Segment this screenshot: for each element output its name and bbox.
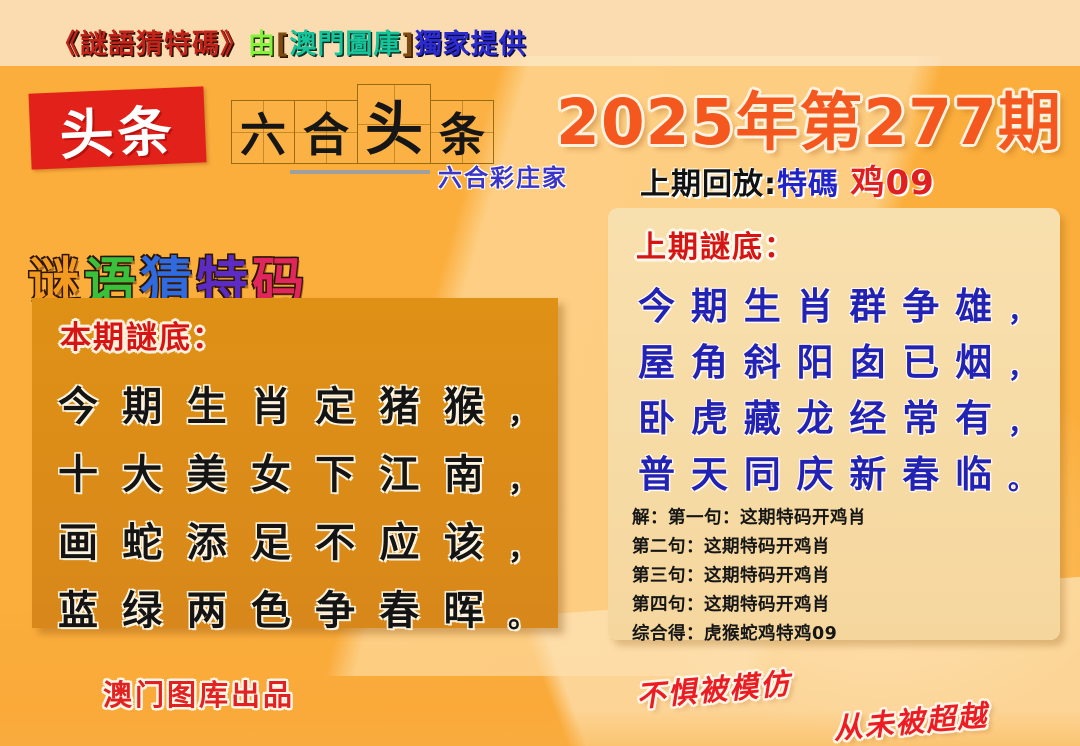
previous-riddle-line-2: 屋 角 斜 阳 囱 已 烟 ， (638, 332, 1036, 386)
l2c1: 大 (122, 442, 162, 500)
issue-title: 2025年第277期 (556, 72, 1062, 163)
logo-grid-cell-1: 合 (294, 100, 358, 164)
r2c3: 阳 (797, 332, 834, 386)
header-part-1: 謎語猜特碼 (80, 22, 220, 61)
r3c4: 经 (849, 388, 886, 442)
l3c5: 应 (379, 510, 419, 568)
r3c3: 龙 (797, 388, 834, 442)
r4c5: 春 (902, 444, 939, 498)
previous-riddle-box: 上期謎底： 今 期 生 肖 群 争 雄 ， 屋 角 斜 阳 囱 已 烟 ， 卧 … (608, 208, 1060, 640)
r1c1: 期 (691, 276, 728, 330)
l3c1: 蛇 (122, 510, 162, 568)
l4c0: 蓝 (58, 578, 98, 636)
header-part-2: 》 (220, 22, 248, 61)
header-part-7: 獨家提供 (415, 22, 527, 61)
current-riddle-line-4: 蓝 绿 两 色 争 春 晖 。 (58, 578, 538, 636)
header-part-6: ] (401, 29, 414, 60)
logo-badge: 头条 (28, 86, 206, 169)
logo-grid-cell-2: 头 (357, 84, 431, 164)
r3c5: 常 (902, 388, 939, 442)
l1punct: ， (508, 388, 538, 432)
header-part-5: 澳門圖庫 (289, 22, 401, 61)
l1c1: 期 (122, 374, 162, 432)
logo-grid-cell-3: 条 (430, 100, 494, 164)
recall-value: 鸡09 (850, 163, 934, 203)
r4c6: 临 (955, 444, 992, 498)
l1c3: 肖 (251, 374, 291, 432)
l3punct: ， (508, 524, 538, 568)
logo-grid-char-3: 条 (439, 99, 485, 165)
header-part-4: [ (276, 29, 289, 60)
current-riddle-line-1: 今 期 生 肖 定 猪 猴 ， (58, 374, 538, 432)
l4c1: 绿 (122, 578, 162, 636)
l2c3: 女 (251, 442, 291, 500)
current-riddle-line-3: 画 蛇 添 足 不 应 该 ， (58, 510, 538, 568)
recall-label: 上期回放: (640, 167, 777, 202)
logo-grid-char-1: 合 (303, 99, 349, 165)
l4c5: 春 (379, 578, 419, 636)
r2c4: 囱 (849, 332, 886, 386)
r3c0: 卧 (638, 388, 675, 442)
r4punct: 。 (1008, 458, 1036, 498)
r2c6: 烟 (955, 332, 992, 386)
l3c6: 该 (444, 510, 484, 568)
r1c4: 群 (849, 276, 886, 330)
previous-draw-recall: 上期回放:特碼 鸡09 (640, 155, 935, 204)
explanation-line-4: 第四句：这期特码开鸡肖 (632, 591, 1042, 616)
r4c4: 新 (849, 444, 886, 498)
logo-grid-char-0: 六 (240, 99, 286, 165)
l4c3: 色 (251, 578, 291, 636)
explanation-line-1: 解：第一句：这期特码开鸡肖 (632, 504, 1042, 529)
l1c6: 猴 (444, 374, 484, 432)
logo-divider (290, 170, 430, 174)
r4c0: 普 (638, 444, 675, 498)
l4c2: 两 (187, 578, 227, 636)
r3c6: 有 (955, 388, 992, 442)
r3punct: ， (1008, 402, 1036, 442)
r2c2: 斜 (744, 332, 781, 386)
r1c6: 雄 (955, 276, 992, 330)
previous-riddle-heading: 上期謎底： (636, 222, 796, 266)
logo-grid-char-2: 头 (365, 82, 423, 166)
header-credit-line: 《謎語猜特碼》 由 [澳門圖庫]獨家提供 (52, 22, 527, 61)
l4punct: 。 (508, 592, 538, 636)
l2c5: 江 (379, 442, 419, 500)
r4c2: 同 (744, 444, 781, 498)
r2c5: 已 (902, 332, 939, 386)
r3c1: 虎 (691, 388, 728, 442)
l3c3: 足 (251, 510, 291, 568)
l1c2: 生 (187, 374, 227, 432)
r1punct: ， (1008, 290, 1036, 330)
r2c0: 屋 (638, 332, 675, 386)
logo-badge-label: 头条 (28, 86, 206, 169)
explanation-line-2: 第二句：这期特码开鸡肖 (632, 533, 1042, 558)
l1c0: 今 (58, 374, 98, 432)
r1c0: 今 (638, 276, 675, 330)
logo-grid-cell-0: 六 (231, 100, 295, 164)
l4c4: 争 (315, 578, 355, 636)
l3c0: 画 (58, 510, 98, 568)
logo-grid: 六 合 头 条 (232, 84, 494, 164)
header-part-0: 《 (52, 22, 80, 61)
poster-root: 《謎語猜特碼》 由 [澳門圖庫]獨家提供 头条 六 合 头 条 六合彩庄家 20… (0, 0, 1080, 746)
l2c6: 南 (444, 442, 484, 500)
l3c4: 不 (315, 510, 355, 568)
previous-riddle-line-4: 普 天 同 庆 新 春 临 。 (638, 444, 1036, 498)
r4c1: 天 (691, 444, 728, 498)
l2c0: 十 (58, 442, 98, 500)
header-part-3: 由 (248, 22, 276, 61)
l2punct: ， (508, 456, 538, 500)
r2c1: 角 (691, 332, 728, 386)
current-riddle-heading: 本期謎底： (60, 312, 225, 357)
r1c2: 生 (744, 276, 781, 330)
r2punct: ， (1008, 346, 1036, 386)
previous-riddle-line-1: 今 期 生 肖 群 争 雄 ， (638, 276, 1036, 330)
l1c4: 定 (315, 374, 355, 432)
current-riddle-line-2: 十 大 美 女 下 江 南 ， (58, 442, 538, 500)
recall-special-label: 特碼 (777, 167, 839, 202)
l4c6: 晖 (444, 578, 484, 636)
l1c5: 猪 (379, 374, 419, 432)
producer-credit: 澳门图库出品 (103, 672, 295, 714)
r4c3: 庆 (797, 444, 834, 498)
explanation-line-5: 综合得：虎猴蛇鸡特鸡09 (632, 620, 1042, 645)
explanation-line-3: 第三句：这期特码开鸡肖 (632, 562, 1042, 587)
r1c3: 肖 (797, 276, 834, 330)
l2c2: 美 (187, 442, 227, 500)
current-riddle-box: 本期謎底： 今 期 生 肖 定 猪 猴 ， 十 大 美 女 下 江 南 ， 画 … (32, 298, 558, 628)
r1c5: 争 (902, 276, 939, 330)
previous-riddle-line-3: 卧 虎 藏 龙 经 常 有 ， (638, 388, 1036, 442)
l2c4: 下 (315, 442, 355, 500)
l3c2: 添 (187, 510, 227, 568)
r3c2: 藏 (744, 388, 781, 442)
